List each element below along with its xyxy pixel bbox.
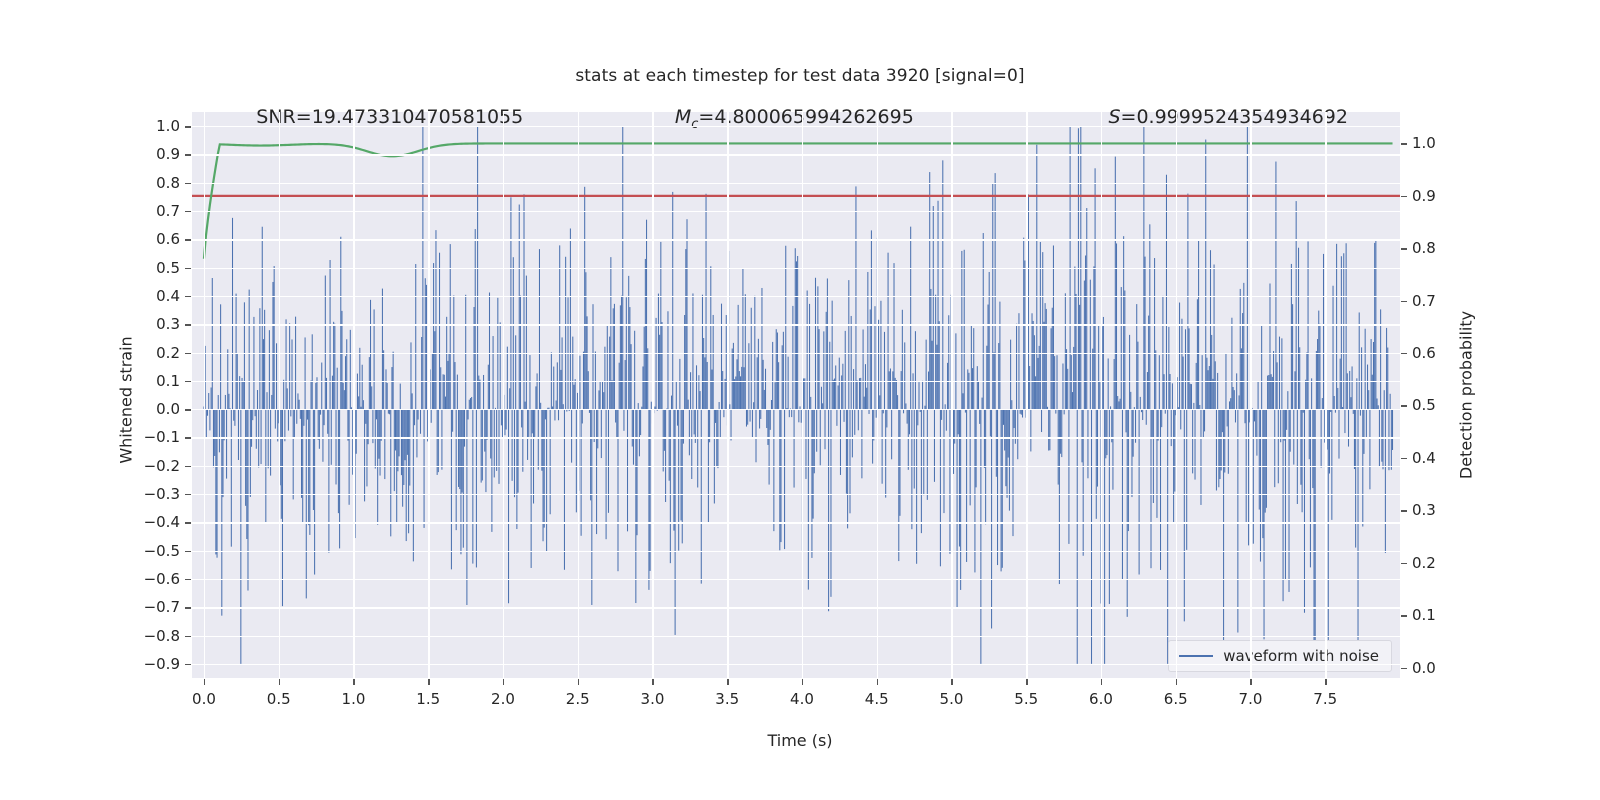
bar <box>1242 313 1243 409</box>
bar <box>878 320 879 409</box>
bar <box>522 409 523 472</box>
bar <box>1265 409 1266 512</box>
bar <box>814 409 815 473</box>
bar <box>214 409 215 456</box>
bar <box>1317 339 1318 409</box>
y-tick-label-right: 0.7 <box>1412 292 1436 310</box>
y-tick-label-right: 0.2 <box>1412 554 1436 572</box>
bar <box>553 367 554 410</box>
bar <box>648 409 649 590</box>
bar <box>1030 409 1031 451</box>
bar <box>704 357 705 409</box>
gridline-horizontal <box>192 437 1400 438</box>
bar <box>798 409 799 422</box>
bar <box>942 160 943 409</box>
plot-area[interactable]: SNR=19.473310470581055 Mc=4.800065994262… <box>192 112 1400 678</box>
bar <box>434 331 435 409</box>
bar <box>1049 409 1050 450</box>
bar <box>1315 409 1316 664</box>
detection-probability-line <box>204 143 1393 258</box>
bar <box>667 311 668 409</box>
bar <box>534 409 535 437</box>
bar <box>1350 397 1351 409</box>
bar <box>1298 248 1299 409</box>
bar <box>326 378 327 409</box>
bar <box>620 305 621 409</box>
bar <box>447 361 448 409</box>
bar <box>558 409 559 420</box>
bar <box>918 382 919 409</box>
bar <box>863 329 864 409</box>
bar <box>1216 409 1217 490</box>
bar <box>871 230 872 409</box>
bar <box>604 347 605 409</box>
y-tick-label-left: 0.1 <box>156 372 180 390</box>
bar <box>647 348 648 409</box>
bar <box>514 409 515 497</box>
gridline-vertical <box>877 112 878 678</box>
bar <box>408 409 409 533</box>
bar <box>978 382 979 409</box>
bar <box>212 278 213 409</box>
bar <box>819 329 820 409</box>
bar <box>269 330 270 409</box>
bar <box>369 357 370 409</box>
gridline-vertical <box>652 112 653 678</box>
bar <box>1158 409 1159 440</box>
bar <box>692 293 693 409</box>
bar <box>922 381 923 409</box>
bar <box>614 304 615 409</box>
bar <box>1065 293 1066 409</box>
gridline-horizontal <box>192 183 1400 184</box>
bar <box>1114 359 1115 409</box>
bar <box>519 205 520 410</box>
bar <box>953 409 954 474</box>
bar <box>281 409 282 519</box>
bar <box>598 390 599 409</box>
bar <box>1167 409 1168 664</box>
bar <box>1363 409 1364 454</box>
y-tick-label-right: 0.5 <box>1412 396 1436 414</box>
bar <box>246 409 247 539</box>
y-tick-label-right: 0.1 <box>1412 606 1436 624</box>
s-equals: = <box>1121 106 1137 128</box>
bar <box>1371 339 1372 409</box>
bar <box>451 409 452 569</box>
bar <box>874 306 875 409</box>
bar <box>415 264 416 409</box>
gridline-vertical <box>1325 112 1326 678</box>
bar <box>990 409 991 436</box>
bar <box>955 333 956 409</box>
bar <box>1051 328 1052 409</box>
bar <box>1172 383 1173 409</box>
bar <box>946 409 947 431</box>
bar <box>582 409 583 423</box>
bar <box>218 395 219 409</box>
bar <box>983 233 984 409</box>
bar <box>734 379 735 409</box>
gridline-vertical <box>1026 112 1027 678</box>
bar <box>341 311 342 409</box>
bar <box>459 409 460 489</box>
bar <box>792 306 793 409</box>
bar <box>600 382 601 409</box>
y-axis-title-right: Detection probability <box>1457 311 1476 479</box>
annotation-signal-score: S=0.9999524354934692 <box>1108 106 1348 128</box>
bar <box>413 409 414 561</box>
bar <box>896 380 897 409</box>
bar <box>691 409 692 479</box>
bar <box>765 369 766 409</box>
bar <box>221 409 222 616</box>
bar <box>472 409 473 563</box>
bar <box>970 409 971 505</box>
bar <box>506 409 507 429</box>
bar <box>234 409 235 426</box>
bar <box>364 409 365 501</box>
bar <box>710 266 711 409</box>
bar <box>915 331 916 409</box>
bar <box>821 387 822 409</box>
bar <box>381 409 382 441</box>
gridline-horizontal <box>192 239 1400 240</box>
bar <box>1133 409 1134 457</box>
bar <box>711 370 712 410</box>
bar <box>782 345 783 409</box>
bar <box>880 301 881 409</box>
bar <box>576 409 577 512</box>
bar <box>1087 409 1088 478</box>
bar <box>272 282 273 409</box>
bar <box>1219 409 1220 479</box>
bar <box>824 409 825 449</box>
bar <box>500 322 501 409</box>
figure-canvas: stats at each timestep for test data 392… <box>0 0 1600 800</box>
y-tick-left <box>185 494 191 495</box>
snr-value: 19.473310470581055 <box>312 106 524 128</box>
bar <box>719 402 720 409</box>
bar <box>1010 340 1011 410</box>
y-tick-label-left: 0.2 <box>156 344 180 362</box>
bar <box>986 346 987 409</box>
bar <box>390 409 391 536</box>
y-tick-label-left: 0.0 <box>156 400 180 418</box>
bar <box>394 409 395 491</box>
bar <box>426 285 427 409</box>
bar <box>775 382 776 409</box>
bar <box>414 409 415 425</box>
bar <box>400 384 401 410</box>
bar <box>1155 350 1156 409</box>
bar <box>243 381 244 409</box>
bar <box>685 249 686 409</box>
bar <box>412 393 413 409</box>
x-tick-label: 7.0 <box>1239 690 1263 708</box>
bar <box>300 409 301 419</box>
bar <box>796 261 797 409</box>
x-tick <box>802 679 803 685</box>
bar <box>783 332 784 409</box>
bar <box>424 409 425 528</box>
y-tick-left <box>185 353 191 354</box>
bar <box>832 301 833 410</box>
gridline-vertical <box>204 112 205 678</box>
bar <box>339 409 340 548</box>
bar <box>452 409 453 432</box>
bar <box>1262 409 1263 538</box>
bar <box>971 325 972 409</box>
bar <box>1275 162 1276 410</box>
bar <box>736 359 737 409</box>
s-value: 0.9999524354934692 <box>1136 106 1348 128</box>
bar <box>1258 382 1259 410</box>
bar <box>629 307 630 409</box>
bar <box>1068 409 1069 544</box>
bar <box>1210 250 1211 409</box>
bar <box>835 365 836 409</box>
bar <box>1291 264 1292 409</box>
bar <box>929 172 930 409</box>
bar <box>1328 409 1329 658</box>
bar <box>1170 374 1171 409</box>
bar <box>943 409 944 513</box>
bar <box>1284 409 1285 440</box>
bar <box>327 409 328 434</box>
y-tick-right <box>1401 143 1407 144</box>
bar <box>688 400 689 410</box>
bar <box>345 356 346 409</box>
bar <box>788 357 789 409</box>
bar <box>823 331 824 409</box>
bar <box>1085 255 1086 409</box>
bar <box>732 348 733 409</box>
bar <box>215 409 216 554</box>
bar <box>1302 409 1303 512</box>
bar <box>677 409 678 425</box>
bar <box>961 251 962 409</box>
bar <box>1083 409 1084 556</box>
bar <box>471 397 472 409</box>
y-tick-label-left: −0.7 <box>144 598 180 616</box>
y-tick-left <box>185 664 191 665</box>
y-tick-left <box>185 183 191 184</box>
bar <box>1008 409 1009 457</box>
bar <box>387 383 388 409</box>
bar <box>1096 409 1097 519</box>
bar <box>640 409 641 435</box>
gridline-horizontal <box>192 296 1400 297</box>
bar <box>933 206 934 409</box>
bar <box>238 409 239 460</box>
y-tick-right <box>1401 301 1407 302</box>
bar <box>322 409 323 462</box>
y-tick-left <box>185 636 191 637</box>
bar <box>1300 409 1301 485</box>
bar <box>884 332 885 409</box>
y-tick-label-left: 0.8 <box>156 174 180 192</box>
bar <box>515 335 516 409</box>
bar <box>746 409 747 426</box>
bar <box>458 409 459 487</box>
bar <box>997 409 998 565</box>
bar <box>941 409 942 420</box>
bar <box>766 409 767 428</box>
x-tick <box>1176 679 1177 685</box>
gridline-vertical <box>951 112 952 678</box>
gridline-vertical <box>802 112 803 678</box>
bar <box>485 409 486 492</box>
bar <box>1001 409 1002 571</box>
bar <box>481 409 482 482</box>
bar <box>977 366 978 409</box>
bar <box>1104 409 1105 664</box>
bar <box>826 312 827 409</box>
bar <box>865 364 866 409</box>
bar <box>607 325 608 409</box>
bar <box>293 409 294 499</box>
x-tick-label: 5.0 <box>940 690 964 708</box>
bar <box>859 378 860 409</box>
bar <box>457 375 458 410</box>
bar <box>366 409 367 486</box>
bar <box>1205 140 1206 410</box>
bar <box>1142 409 1143 420</box>
y-tick-label-left: 0.5 <box>156 259 180 277</box>
bar <box>382 289 383 410</box>
bar <box>671 396 672 410</box>
y-tick-left <box>185 296 191 297</box>
bar <box>585 272 586 409</box>
bar <box>488 365 489 409</box>
y-tick-label-left: 1.0 <box>156 117 180 135</box>
bar <box>227 349 228 409</box>
bar <box>1086 208 1087 409</box>
bar <box>1348 409 1349 446</box>
bar <box>1359 312 1360 409</box>
bar <box>713 315 714 409</box>
bar <box>257 390 258 409</box>
bar <box>1073 347 1074 409</box>
bar <box>510 197 511 409</box>
bar <box>358 396 359 409</box>
bar <box>1329 409 1330 473</box>
bar <box>858 409 859 430</box>
y-axis-title-left: Whitened strain <box>117 336 136 463</box>
bar <box>498 409 499 484</box>
bar <box>1074 267 1075 410</box>
bar <box>454 362 455 409</box>
gridline-horizontal <box>192 579 1400 580</box>
bar <box>597 409 598 448</box>
bar <box>867 272 868 409</box>
bar <box>846 409 847 494</box>
bar <box>888 253 889 409</box>
bar <box>1154 258 1155 409</box>
x-tick-label: 6.5 <box>1164 690 1188 708</box>
y-tick-label-left: −0.6 <box>144 570 180 588</box>
bar <box>370 300 371 409</box>
bar <box>1128 409 1129 531</box>
bar <box>1355 409 1356 547</box>
bar <box>1381 409 1382 462</box>
bar <box>1218 409 1219 487</box>
bar <box>1390 394 1391 409</box>
bar <box>211 387 212 409</box>
bar <box>1060 409 1061 454</box>
bar <box>631 344 632 409</box>
bar <box>1385 409 1386 553</box>
bar <box>739 371 740 409</box>
y-tick-right <box>1401 563 1407 564</box>
bar <box>1153 409 1154 503</box>
bar <box>1184 409 1185 621</box>
bar <box>879 395 880 409</box>
bar <box>909 409 910 434</box>
bar <box>777 333 778 410</box>
bar <box>838 385 839 409</box>
y-tick-right <box>1401 405 1407 406</box>
bar <box>813 409 814 518</box>
bar <box>1368 390 1369 409</box>
x-tick <box>1026 679 1027 685</box>
bar <box>1278 409 1279 483</box>
annotation-snr: SNR=19.473310470581055 <box>256 106 523 128</box>
bar <box>470 398 471 409</box>
bar <box>608 409 609 513</box>
bar <box>533 409 534 503</box>
bar <box>557 362 558 409</box>
bar <box>1067 369 1068 409</box>
bar <box>639 409 640 456</box>
bar <box>1123 236 1124 409</box>
bar <box>236 294 237 410</box>
y-tick-label-left: 0.6 <box>156 230 180 248</box>
x-tick <box>1250 679 1251 685</box>
bar <box>747 409 748 425</box>
bar <box>808 409 809 589</box>
bar <box>873 409 874 440</box>
bar <box>738 305 739 409</box>
bar <box>757 357 758 409</box>
bar <box>696 365 697 409</box>
bar <box>340 237 341 409</box>
bar <box>206 409 207 438</box>
bar <box>926 340 927 410</box>
bar <box>433 263 434 409</box>
gridline-horizontal <box>192 522 1400 523</box>
bar <box>610 257 611 409</box>
bar <box>1240 289 1241 409</box>
bar <box>1340 359 1341 410</box>
bar <box>225 395 226 409</box>
chart-legend[interactable]: waveform with noise <box>1168 640 1392 672</box>
bar <box>321 363 322 410</box>
bar <box>383 350 384 409</box>
gridline-horizontal <box>192 211 1400 212</box>
bar <box>1093 266 1094 409</box>
bar <box>930 289 931 409</box>
y-tick-label-right: 0.9 <box>1412 187 1436 205</box>
bar <box>1079 305 1080 409</box>
bar <box>554 409 555 420</box>
bar <box>253 317 254 409</box>
bar <box>468 409 469 419</box>
bar <box>1382 409 1383 469</box>
bar <box>403 409 404 485</box>
bar <box>627 409 628 531</box>
